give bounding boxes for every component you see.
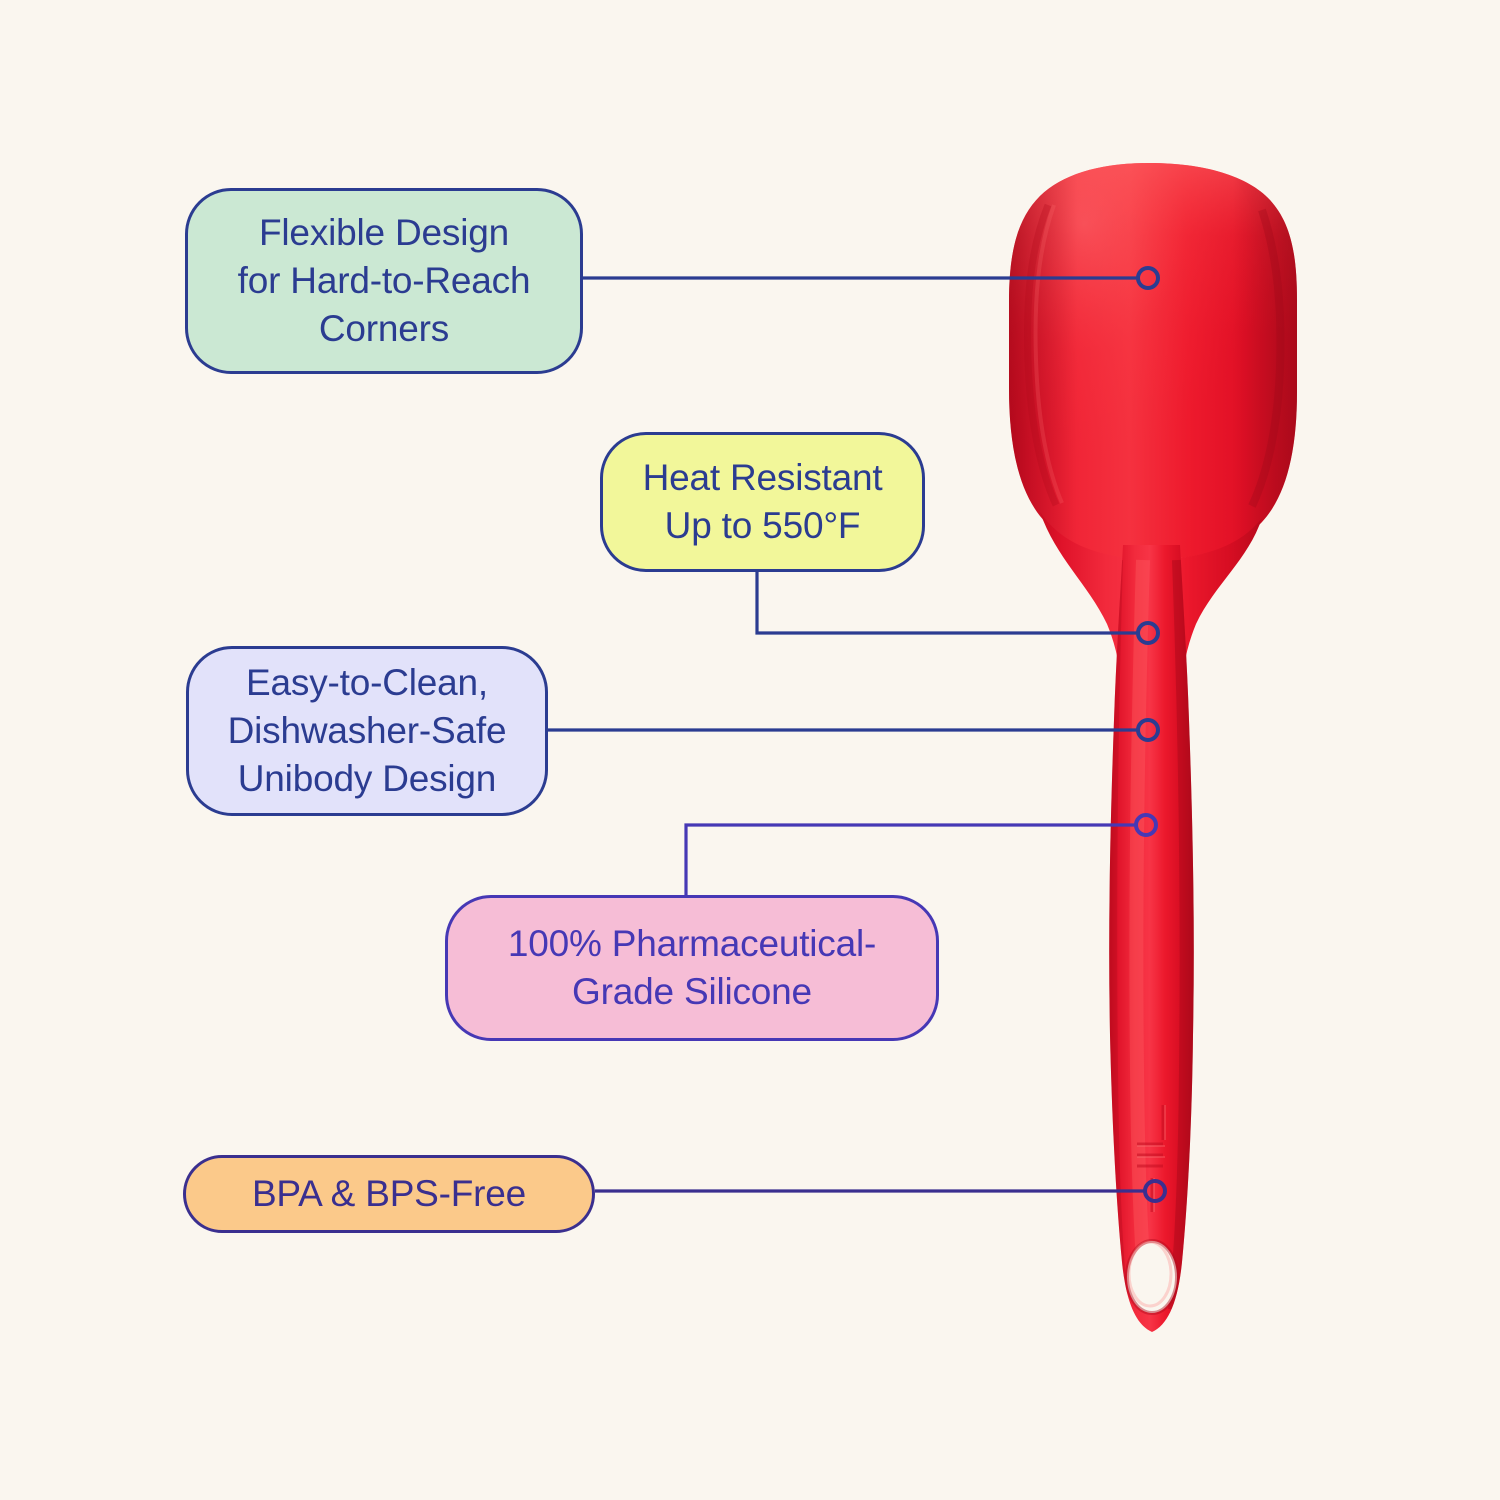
- callout-flexible-design-label: Flexible Design for Hard-to-Reach Corner…: [220, 209, 549, 353]
- connector-endpoint-flexible-design: [1138, 268, 1158, 288]
- connector-endpoint-pharmaceutical-grade: [1136, 815, 1156, 835]
- connector-endpoint-heat-resistant: [1138, 623, 1158, 643]
- connector-endpoint-bpa-free: [1145, 1181, 1165, 1201]
- callout-easy-to-clean-label: Easy-to-Clean, Dishwasher-Safe Unibody D…: [210, 659, 525, 803]
- callout-heat-resistant-label: Heat Resistant Up to 550°F: [625, 454, 901, 550]
- connector-pharmaceutical-grade: [686, 825, 1136, 895]
- callout-pharmaceutical-grade-label: 100% Pharmaceutical- Grade Silicone: [490, 920, 894, 1016]
- callout-pharmaceutical-grade[interactable]: 100% Pharmaceutical- Grade Silicone: [445, 895, 939, 1041]
- connector-heat-resistant: [757, 571, 1138, 633]
- callout-easy-to-clean[interactable]: Easy-to-Clean, Dishwasher-Safe Unibody D…: [186, 646, 548, 816]
- infographic-canvas: Flexible Design for Hard-to-Reach Corner…: [0, 0, 1500, 1500]
- callout-flexible-design[interactable]: Flexible Design for Hard-to-Reach Corner…: [185, 188, 583, 374]
- callout-bpa-free[interactable]: BPA & BPS-Free: [183, 1155, 595, 1233]
- callout-heat-resistant[interactable]: Heat Resistant Up to 550°F: [600, 432, 925, 572]
- connector-endpoint-easy-to-clean: [1138, 720, 1158, 740]
- callout-bpa-free-label: BPA & BPS-Free: [234, 1170, 544, 1218]
